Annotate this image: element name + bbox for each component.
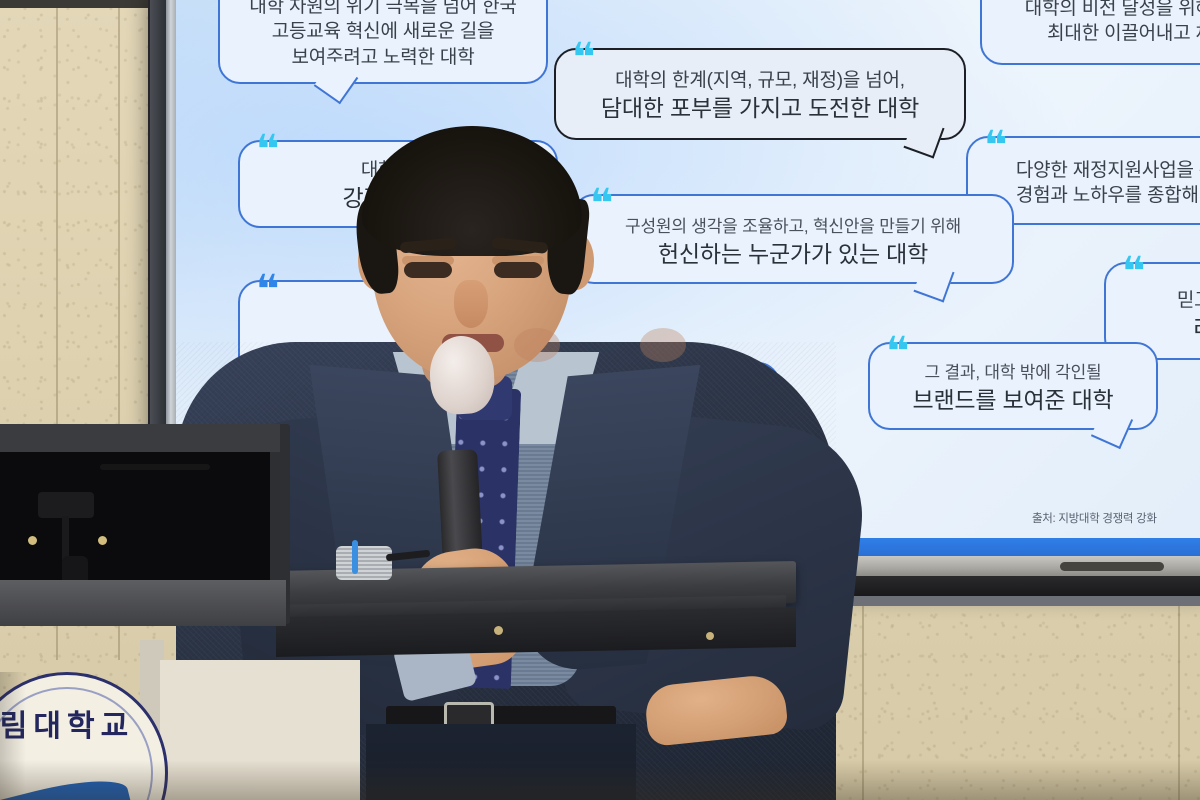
bubble-line: 경험과 노하우를 종합해서 <box>982 183 1200 208</box>
bubble-line: 다양한 재정지원사업을 통 <box>982 158 1200 183</box>
bubble-line: 보여주려고 노력한 대학 <box>238 45 528 70</box>
source-note: 출처: 지방대학 경쟁력 강화 <box>1032 510 1157 526</box>
bubble-line: 그 결과, 대학 밖에 각인될 <box>882 362 1144 385</box>
confidence-monitor-top-trim <box>0 424 280 452</box>
floor-shadow <box>0 760 1200 800</box>
bubble-line: 고등교육 혁신에 새로운 길을 <box>238 19 528 44</box>
speech-bubble-center-lower: ❝ 그 결과, 대학 밖에 각인될 브랜드를 보여준 대학 <box>868 342 1158 430</box>
eye <box>404 262 452 278</box>
monitor-mount <box>38 492 94 552</box>
display-vent-slot <box>1060 562 1164 571</box>
hair <box>362 126 582 256</box>
speech-bubble-top-left: ❝ 대학 차원의 위기 극복을 넘어 한국 고등교육 혁신에 새로운 길을 보여… <box>218 0 548 84</box>
bubble-line: 대학의 비전 달성을 위해 가 <box>996 0 1200 21</box>
presentation-photo: ❝ 대학 차원의 위기 극복을 넘어 한국 고등교육 혁신에 새로운 길을 보여… <box>0 0 1200 800</box>
nose <box>454 280 488 328</box>
speech-bubble-top-right: ❝ 대학의 비전 달성을 위해 가 최대한 이끌어내고 체 <box>980 0 1200 65</box>
desk-mic-indicator <box>352 540 358 574</box>
bubble-line: 대학의 한계(지역, 규모, 재정)을 넘어, <box>572 68 948 93</box>
eye <box>494 262 542 278</box>
bubble-line: 대학 차원의 위기 극복을 넘어 한국 <box>238 0 528 19</box>
mount-screw <box>98 536 107 545</box>
lectern-screw <box>706 632 714 640</box>
monitor-base <box>0 580 286 626</box>
lectern-screw <box>494 626 503 635</box>
mount-screw <box>28 536 37 545</box>
bubble-line: 리더 <box>1116 313 1200 344</box>
confidence-monitor-slot <box>100 464 210 470</box>
bubble-line: 믿고 따라 <box>1116 288 1200 313</box>
bubble-line: 최대한 이끌어내고 체 <box>996 21 1200 46</box>
desk-mic-head <box>336 546 392 580</box>
